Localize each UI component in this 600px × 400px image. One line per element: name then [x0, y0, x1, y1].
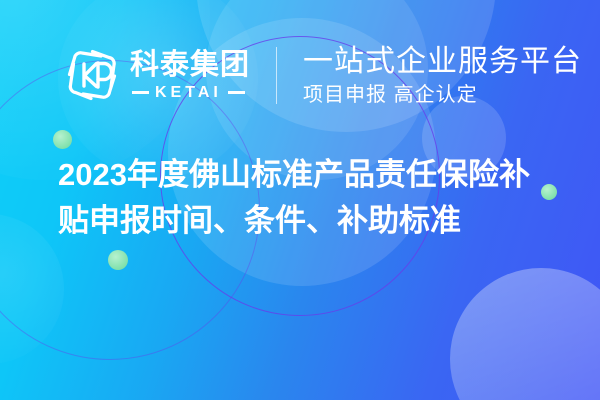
- dash-left-icon: [132, 91, 149, 94]
- decorative-dot-green-2: [108, 250, 128, 270]
- banner-header: 科泰集团 KETAI 一站式企业服务平台 项目申报 高企认定: [0, 30, 600, 120]
- brand-name-en: KETAI: [155, 84, 222, 101]
- decorative-circle-bottom-right: [450, 268, 600, 400]
- brand-name-cn: 科泰集团: [130, 49, 250, 81]
- decorative-blob-bottom-left: [0, 214, 64, 364]
- slogan-main-text: 一站式企业服务平台: [303, 45, 582, 79]
- brand-name-en-row: KETAI: [130, 84, 250, 101]
- page-title: 2023年度佛山标准产品责任保险补贴申报时间、条件、补助标准: [58, 152, 558, 244]
- decorative-dot-green-1: [53, 130, 72, 149]
- slogan-block: 一站式企业服务平台 项目申报 高企认定: [303, 45, 582, 106]
- brand-logo[interactable]: 科泰集团 KETAI: [62, 45, 250, 105]
- header-divider: [276, 47, 277, 104]
- slogan-sub-text: 项目申报 高企认定: [303, 84, 582, 106]
- dash-right-icon: [228, 91, 245, 94]
- promo-banner: 科泰集团 KETAI 一站式企业服务平台 项目申报 高企认定 2023年度佛山标…: [0, 0, 600, 400]
- ketai-monogram-icon: [62, 45, 122, 105]
- brand-wordmark: 科泰集团 KETAI: [130, 49, 250, 101]
